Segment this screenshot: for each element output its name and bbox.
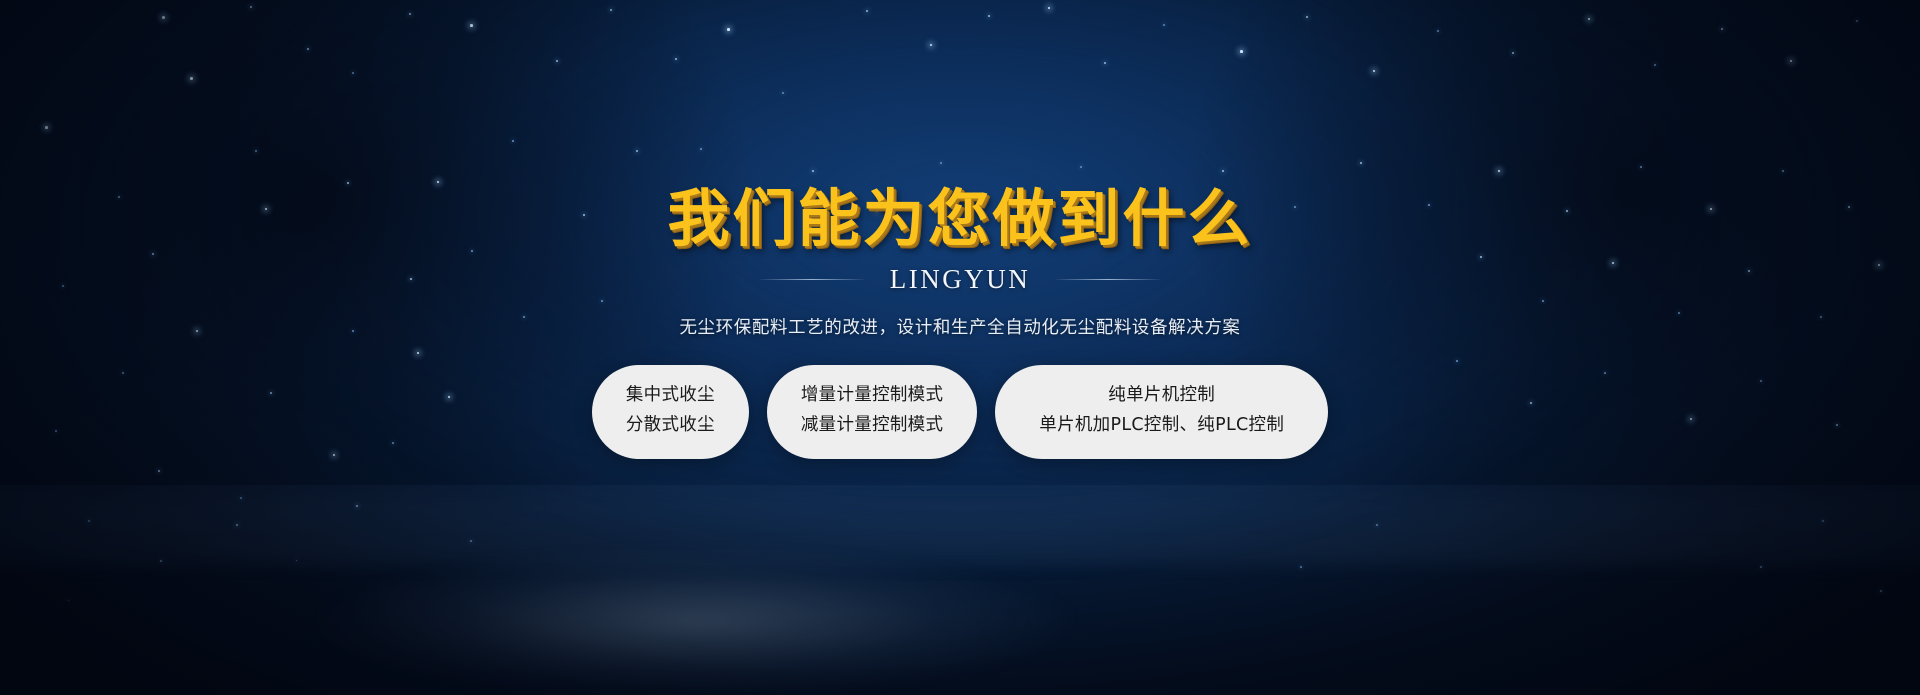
feature-card-line-1: 增量计量控制模式: [801, 387, 943, 405]
brand-name: LINGYUN: [890, 264, 1030, 295]
star-particle: [1300, 566, 1302, 568]
feature-card-dust-collection[interactable]: 集中式收尘 分散式收尘: [592, 365, 749, 459]
feature-card-line-2: 单片机加PLC控制、纯PLC控制: [1039, 417, 1284, 435]
feature-card-line-2: 减量计量控制模式: [801, 417, 943, 435]
star-particle: [1880, 590, 1882, 592]
feature-card-control-system[interactable]: 纯单片机控制 单片机加PLC控制、纯PLC控制: [995, 365, 1328, 459]
star-particle: [68, 600, 69, 601]
brand-subtitle: LINGYUN: [760, 264, 1160, 295]
feature-card-line-1: 纯单片机控制: [1108, 387, 1215, 405]
star-particle: [160, 560, 162, 562]
star-particle: [470, 540, 472, 542]
star-particle: [88, 520, 90, 522]
feature-card-list: 集中式收尘 分散式收尘 增量计量控制模式 减量计量控制模式 纯单片机控制 单片机…: [592, 365, 1328, 459]
star-particle: [1376, 524, 1378, 526]
feature-card-line-1: 集中式收尘: [626, 387, 715, 405]
feature-card-metering-mode[interactable]: 增量计量控制模式 减量计量控制模式: [767, 365, 977, 459]
page-title: 我们能为您做到什么: [667, 186, 1252, 252]
perspective-dot-grid: [0, 485, 1920, 695]
star-particle: [296, 560, 297, 561]
grid-highlight: [315, 547, 1075, 695]
divider-line-left: [760, 279, 864, 280]
hero-banner: 我们能为您做到什么 LINGYUN 无尘环保配料工艺的改进，设计和生产全自动化无…: [0, 0, 1920, 695]
grid-haze: [0, 485, 1920, 565]
star-particle: [236, 524, 238, 526]
star-particle: [1822, 520, 1824, 522]
divider-line-right: [1056, 279, 1160, 280]
banner-content: 我们能为您做到什么 LINGYUN 无尘环保配料工艺的改进，设计和生产全自动化无…: [0, 0, 1920, 459]
feature-card-line-2: 分散式收尘: [626, 417, 715, 435]
star-particle: [158, 470, 160, 472]
star-particle: [240, 497, 242, 499]
banner-description: 无尘环保配料工艺的改进，设计和生产全自动化无尘配料设备解决方案: [679, 314, 1240, 339]
star-particle: [356, 505, 358, 507]
star-particle: [1760, 566, 1762, 568]
